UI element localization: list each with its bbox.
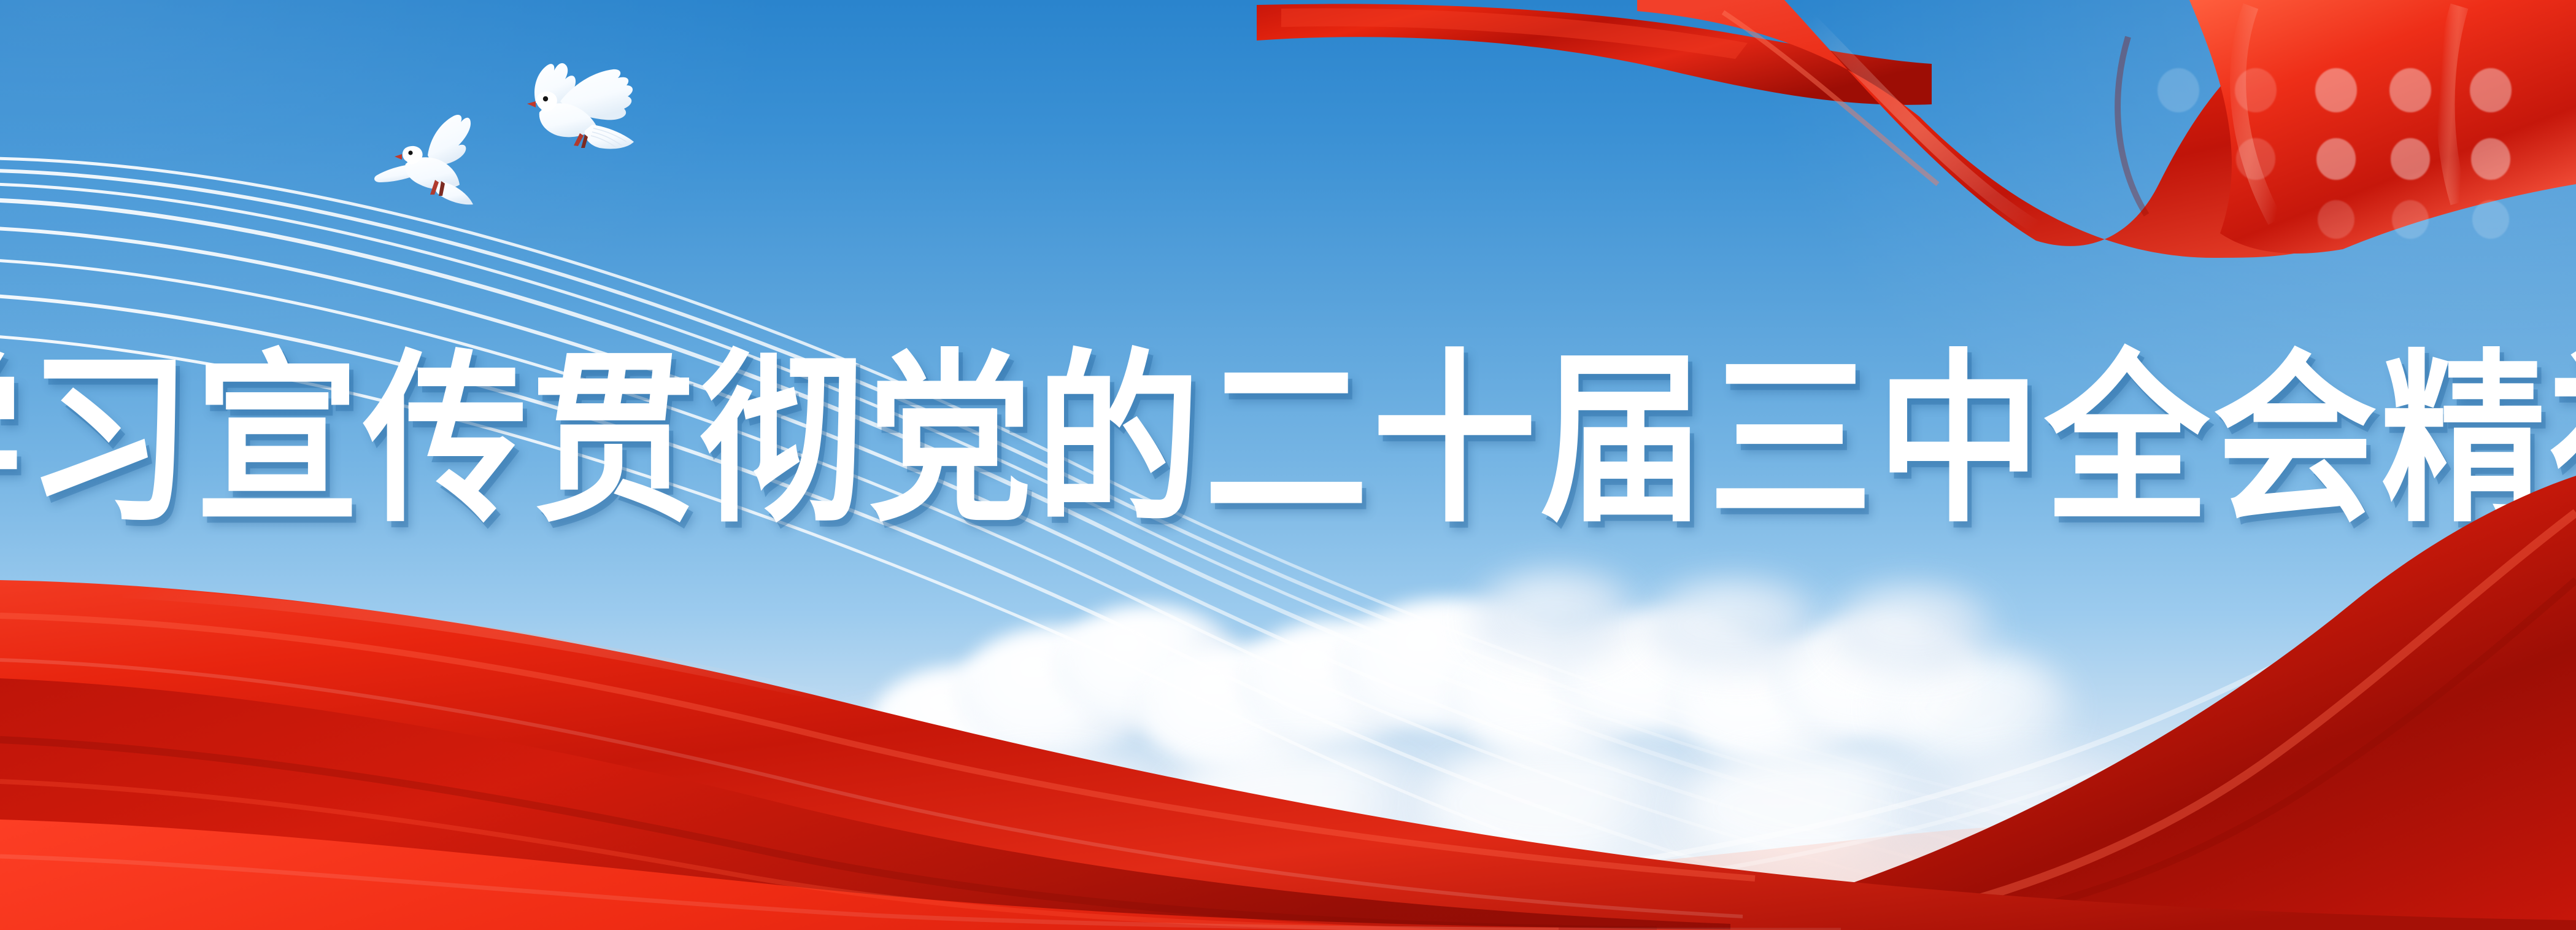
sky-glow-right: [1391, 0, 2576, 726]
banner-root: 学习宣传贯彻党的二十届三中全会精神: [0, 0, 2576, 930]
sky-glow-left: [0, 0, 1030, 576]
